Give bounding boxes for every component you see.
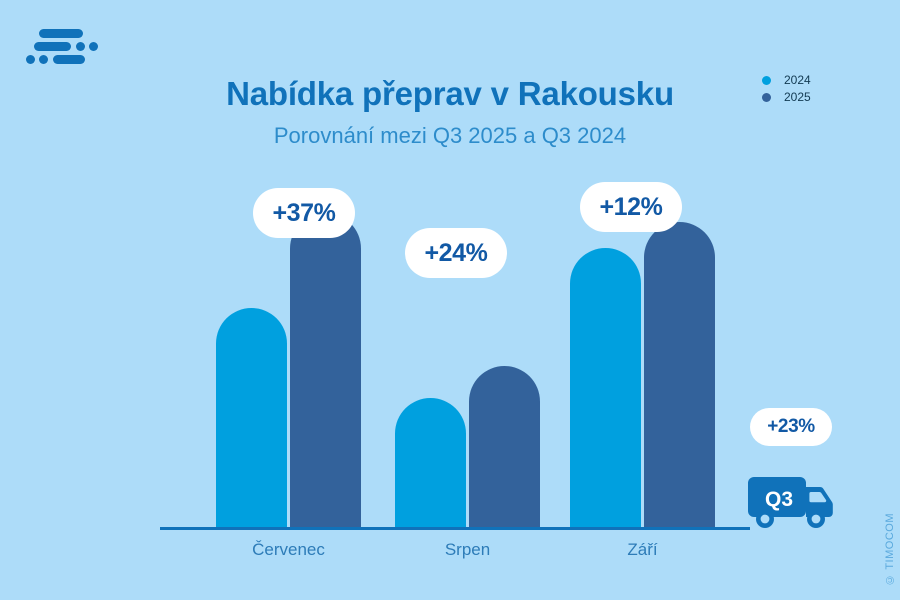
bar-cervenec-2025 (290, 213, 361, 527)
bar-zari-2024 (570, 248, 641, 527)
truck-quarter-label: Q3 (758, 487, 800, 513)
badge-q3-total: +23% (750, 408, 832, 446)
bar-cervenec-2024 (216, 308, 287, 527)
bar-srpen-2025 (469, 366, 540, 527)
bar-zari-2025 (644, 222, 715, 527)
category-label-srpen: Srpen (395, 538, 540, 562)
delivery-truck-icon: Q3 (748, 477, 834, 529)
badge-srpen: +24% (405, 228, 507, 278)
badge-cervenec: +37% (253, 188, 355, 238)
axis-baseline (160, 527, 750, 530)
badge-zari: +12% (580, 182, 682, 232)
copyright-notice: © TIMOCOM (884, 513, 896, 586)
category-label-cervenec: Červenec (216, 538, 361, 562)
bar-srpen-2024 (395, 398, 466, 527)
infographic-canvas: Nabídka přeprav v Rakousku Porovnání mez… (0, 0, 900, 600)
bar-chart-plot: Červenec Srpen Září +37% +24% +12% +23% … (0, 0, 900, 600)
category-label-zari: Září (570, 538, 715, 562)
